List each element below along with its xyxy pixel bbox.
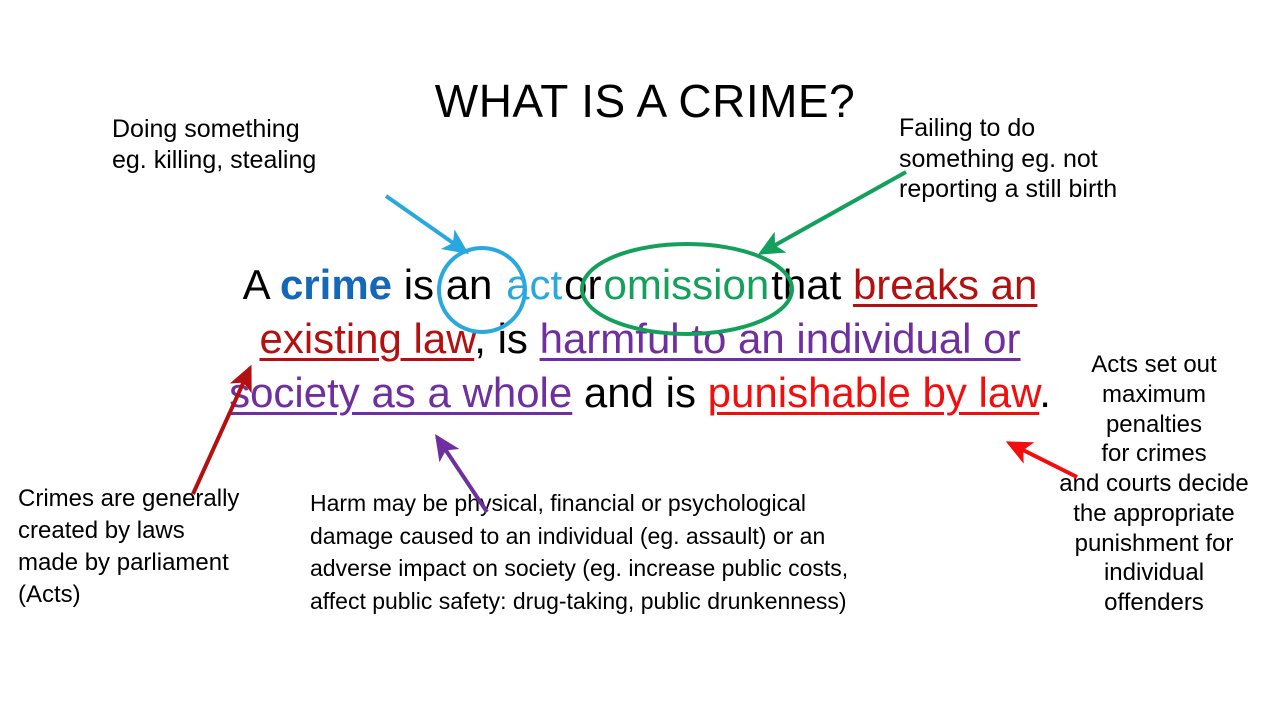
definition-word-comma-is: , is xyxy=(474,315,539,362)
note-acts-set-out-penalties: Acts set out maximum penalties for crime… xyxy=(1029,350,1279,618)
note-line: created by laws xyxy=(18,515,308,547)
definition-line-3: society as a whole and is punishable by … xyxy=(140,366,1140,420)
note-doing-something: Doing something eg. killing, stealing xyxy=(112,114,412,175)
note-line: (Acts) xyxy=(18,579,308,611)
note-line: individual xyxy=(1029,558,1279,588)
note-line: made by parliament xyxy=(18,547,308,579)
note-line: damage caused to an individual (eg. assa… xyxy=(310,520,1010,553)
definition-phrase-society: society as a whole xyxy=(229,369,572,416)
note-line: penalties xyxy=(1029,410,1279,440)
note-line: Doing something xyxy=(112,114,412,145)
page-title: WHAT IS A CRIME? xyxy=(390,74,900,128)
note-line: eg. killing, stealing xyxy=(112,145,412,176)
definition-word-or: or xyxy=(564,261,601,308)
definition-word-act: act xyxy=(504,261,564,308)
definition-phrase-existing-law: existing law xyxy=(259,315,474,362)
definition-word-and-is: and is xyxy=(572,369,707,416)
definition-word-a: A xyxy=(243,261,280,308)
definition-word-that: that xyxy=(771,261,853,308)
arrow-doing-to-act xyxy=(386,196,466,252)
note-crimes-created-by-laws: Crimes are generally created by laws mad… xyxy=(18,483,308,611)
note-line: something eg. not xyxy=(899,144,1229,175)
note-line: affect public safety: drug-taking, publi… xyxy=(310,585,1010,618)
note-line: Failing to do xyxy=(899,113,1229,144)
definition-word-crime: crime xyxy=(280,261,392,308)
note-line: Crimes are generally xyxy=(18,483,308,515)
note-line: for crimes xyxy=(1029,439,1279,469)
note-line: reporting a still birth xyxy=(899,174,1229,205)
note-harm-definition: Harm may be physical, financial or psych… xyxy=(310,487,1010,618)
note-line: maximum xyxy=(1029,380,1279,410)
arrow-failing-to-omission xyxy=(761,172,906,253)
note-failing-to-do: Failing to do something eg. not reportin… xyxy=(899,113,1229,205)
definition-phrase-punishable: punishable by law xyxy=(708,369,1040,416)
note-line: Acts set out xyxy=(1029,350,1279,380)
definition-line-2: existing law, is harmful to an individua… xyxy=(140,312,1140,366)
note-line: punishment for xyxy=(1029,529,1279,559)
definition-phrase-breaks-an: breaks an xyxy=(853,261,1037,308)
definition-phrase-harmful: harmful to an individual or xyxy=(540,315,1021,362)
note-line: Harm may be physical, financial or psych… xyxy=(310,487,1010,520)
definition-line-1: A crime is an actoromissionthat breaks a… xyxy=(140,258,1140,312)
note-line: offenders xyxy=(1029,588,1279,618)
note-line: and courts decide xyxy=(1029,469,1279,499)
slide-canvas: WHAT IS A CRIME? A crime is an actoromis… xyxy=(0,0,1280,720)
definition-word-is-an: is an xyxy=(392,261,504,308)
note-line: adverse impact on society (eg. increase … xyxy=(310,552,1010,585)
definition-word-omission: omission xyxy=(601,261,771,308)
crime-definition-sentence: A crime is an actoromissionthat breaks a… xyxy=(140,258,1140,419)
note-line: the appropriate xyxy=(1029,499,1279,529)
